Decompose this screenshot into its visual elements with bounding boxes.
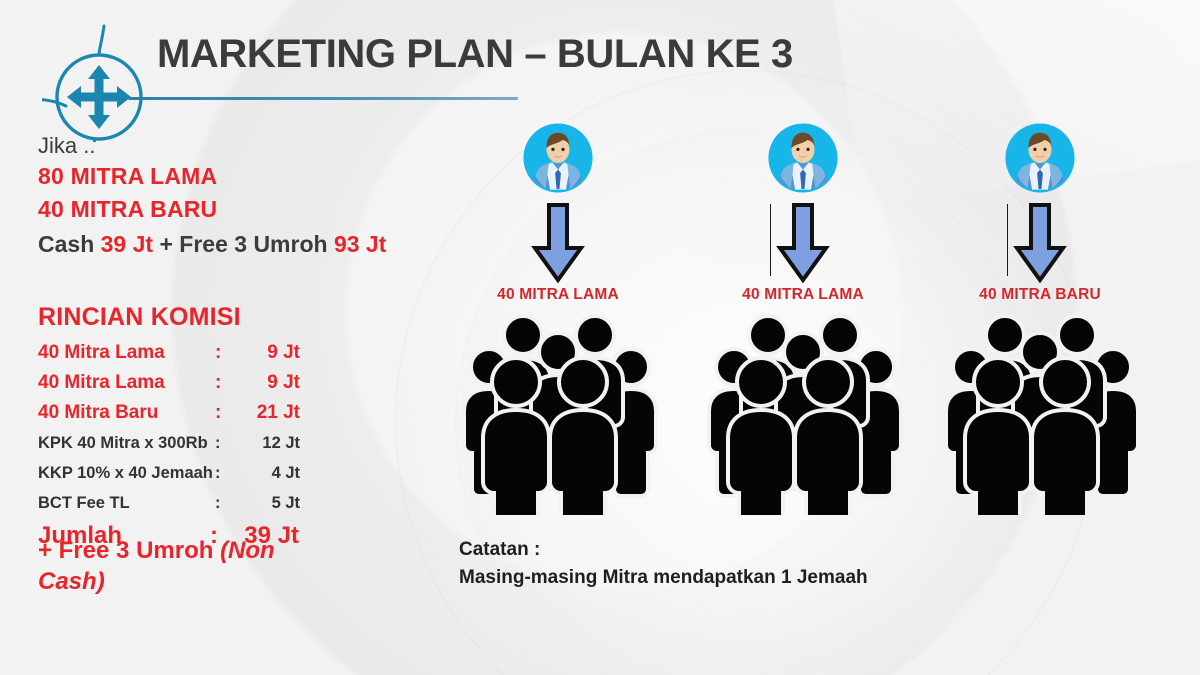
arrow-zone [925, 202, 1155, 284]
crowd-people-icon [688, 310, 918, 515]
row-label: 40 Mitra Lama [38, 338, 215, 368]
arrow-zone [688, 202, 918, 284]
header-underline [128, 97, 518, 100]
commission-row: KKP 10% x 40 Jemaah:4 Jt [38, 458, 368, 488]
commission-section-title: RINCIAN KOMISI [38, 303, 241, 332]
row-label: KKP 10% x 40 Jemaah [38, 458, 215, 488]
flow-column-label: 40 MITRA BARU [925, 286, 1155, 304]
cash-summary-line: Cash 39 Jt + Free 3 Umroh 93 Jt [38, 227, 438, 262]
row-label: 40 Mitra Lama [38, 368, 215, 398]
businessman-avatar-icon [1004, 122, 1076, 194]
free-umroh-text: + Free 3 Umroh [38, 537, 220, 564]
commission-row: KPK 40 Mitra x 300Rb:12 Jt [38, 428, 368, 458]
row-value: 9 Jt [232, 338, 300, 368]
note-body: Masing-masing Mitra mendapatkan 1 Jemaah [459, 564, 979, 592]
commission-row: 40 Mitra Baru:21 Jt [38, 398, 368, 428]
note-title: Catatan : [459, 536, 979, 564]
row-colon: : [215, 368, 232, 398]
flow-column-1: 40 MITRA LAMA [443, 122, 673, 515]
commission-row: BCT Fee TL:5 Jt [38, 488, 368, 518]
row-colon: : [215, 458, 232, 488]
flow-column-2: 40 MITRA LAMA [688, 122, 918, 515]
highlight-new-partners: 40 MITRA BARU [38, 193, 438, 226]
connector-stem [770, 204, 771, 276]
row-value: 9 Jt [232, 368, 300, 398]
row-value: 4 Jt [232, 458, 300, 488]
note-block: Catatan : Masing-masing Mitra mendapatka… [459, 536, 979, 591]
down-arrow-icon [1013, 202, 1067, 284]
flow-column-label: 40 MITRA LAMA [688, 286, 918, 304]
flow-column-3: 40 MITRA BARU [925, 122, 1155, 515]
crowd-people-icon [925, 310, 1155, 515]
row-colon: : [215, 488, 232, 518]
row-colon: : [215, 338, 232, 368]
left-summary-block: Jika .. 80 MITRA LAMA 40 MITRA BARU Cash… [38, 132, 438, 262]
commission-row: 40 Mitra Lama:9 Jt [38, 338, 368, 368]
arrow-zone [443, 202, 673, 284]
row-value: 5 Jt [232, 488, 300, 518]
page-title: MARKETING PLAN – BULAN KE 3 [157, 32, 793, 77]
commission-row: 40 Mitra Lama:9 Jt [38, 368, 368, 398]
intro-text: Jika .. [38, 132, 438, 160]
move-four-arrows-icon [42, 22, 162, 142]
cash-bonus-value: 93 Jt [334, 231, 386, 257]
down-arrow-icon [776, 202, 830, 284]
businessman-avatar-icon [522, 122, 594, 194]
crowd-people-icon [443, 310, 673, 515]
highlight-old-partners: 80 MITRA LAMA [38, 160, 438, 193]
cash-prefix: Cash [38, 231, 101, 257]
row-label: 40 Mitra Baru [38, 398, 215, 428]
row-label: BCT Fee TL [38, 488, 215, 518]
cash-value: 39 Jt [101, 231, 153, 257]
free-umroh-note: + Free 3 Umroh (Non Cash) [38, 536, 313, 597]
commission-list: 40 Mitra Lama:9 Jt 40 Mitra Lama:9 Jt 40… [38, 338, 368, 554]
connector-stem [1007, 204, 1008, 276]
row-label: KPK 40 Mitra x 300Rb [38, 428, 215, 458]
row-colon: : [215, 398, 232, 428]
row-value: 12 Jt [232, 428, 300, 458]
cash-middle: + Free 3 Umroh [153, 231, 334, 257]
row-value: 21 Jt [232, 398, 300, 428]
down-arrow-icon [531, 202, 585, 284]
businessman-avatar-icon [767, 122, 839, 194]
flow-column-label: 40 MITRA LAMA [443, 286, 673, 304]
row-colon: : [215, 428, 232, 458]
slide-canvas: MARKETING PLAN – BULAN KE 3 Jika .. 80 M… [0, 0, 1200, 675]
